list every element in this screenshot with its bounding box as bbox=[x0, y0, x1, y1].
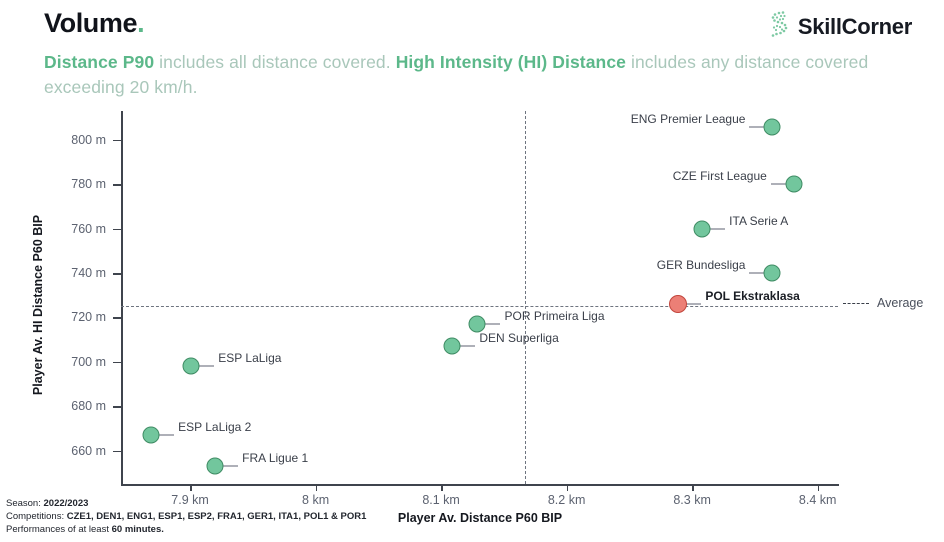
x-axis-line bbox=[121, 484, 839, 486]
y-tick bbox=[113, 317, 121, 319]
point-leader-line bbox=[709, 228, 725, 229]
point-leader-line bbox=[459, 346, 475, 347]
x-tick-label: 8.4 km bbox=[778, 493, 858, 507]
y-axis-title: Player Av. HI Distance P60 BIP bbox=[31, 205, 45, 405]
x-tick bbox=[316, 484, 318, 491]
data-point-label: GER Bundesliga bbox=[657, 258, 746, 272]
point-leader-line bbox=[685, 304, 701, 305]
y-tick bbox=[113, 406, 121, 408]
y-tick-label: 720 m bbox=[44, 310, 106, 324]
legend-label-average: Average bbox=[877, 296, 923, 310]
data-point-label: ESP LaLiga bbox=[218, 351, 281, 365]
data-point[interactable] bbox=[785, 176, 802, 193]
data-point-label: FRA Ligue 1 bbox=[242, 451, 308, 465]
data-point[interactable] bbox=[694, 220, 711, 237]
y-tick bbox=[113, 229, 121, 231]
x-tick bbox=[441, 484, 443, 491]
footer-competitions-value: CZE1, DEN1, ENG1, ESP1, ESP2, FRA1, GER1… bbox=[67, 511, 367, 522]
y-tick-label: 780 m bbox=[44, 177, 106, 191]
point-leader-line bbox=[158, 435, 174, 436]
average-line-horizontal bbox=[121, 306, 838, 307]
data-point[interactable] bbox=[444, 338, 461, 355]
y-axis-line bbox=[121, 111, 123, 485]
data-point-label: POL Ekstraklasa bbox=[705, 289, 800, 303]
data-point-label: ITA Serie A bbox=[729, 214, 788, 228]
y-tick-label: 800 m bbox=[44, 133, 106, 147]
x-tick-label: 8.2 km bbox=[527, 493, 607, 507]
footer-performances: Performances of at least 60 minutes. bbox=[6, 523, 366, 536]
data-point[interactable] bbox=[764, 118, 781, 135]
y-tick bbox=[113, 140, 121, 142]
data-point[interactable] bbox=[669, 295, 687, 313]
x-tick bbox=[190, 484, 192, 491]
data-point-label: ENG Premier League bbox=[631, 112, 746, 126]
x-tick-label: 8.1 km bbox=[401, 493, 481, 507]
footer-competitions: Competitions: CZE1, DEN1, ENG1, ESP1, ES… bbox=[6, 510, 366, 523]
data-point[interactable] bbox=[183, 358, 200, 375]
footer-performances-value: 60 minutes. bbox=[112, 524, 164, 535]
x-tick bbox=[567, 484, 569, 491]
data-point-label: DEN Superliga bbox=[479, 331, 558, 345]
data-point-label: CZE First League bbox=[673, 169, 767, 183]
data-point[interactable] bbox=[764, 265, 781, 282]
point-leader-line bbox=[222, 466, 238, 467]
y-tick-label: 740 m bbox=[44, 266, 106, 280]
y-tick-label: 660 m bbox=[44, 444, 106, 458]
data-point[interactable] bbox=[469, 316, 486, 333]
footer-season-value: 2022/2023 bbox=[44, 498, 89, 509]
x-tick bbox=[818, 484, 820, 491]
y-tick bbox=[113, 362, 121, 364]
footer-competitions-label: Competitions: bbox=[6, 511, 67, 522]
y-tick bbox=[113, 184, 121, 186]
x-tick-label: 8.3 km bbox=[652, 493, 732, 507]
data-point[interactable] bbox=[143, 427, 160, 444]
scatter-plot: Player Av. HI Distance P60 BIP Player Av… bbox=[0, 0, 944, 542]
average-line-vertical bbox=[525, 111, 526, 484]
legend-dashed-line-icon bbox=[843, 303, 869, 304]
data-point-label: ESP LaLiga 2 bbox=[178, 420, 251, 434]
footer-notes: Season: 2022/2023 Competitions: CZE1, DE… bbox=[6, 497, 366, 536]
y-tick-label: 680 m bbox=[44, 399, 106, 413]
data-point-label: POR Primeira Liga bbox=[504, 309, 604, 323]
footer-season: Season: 2022/2023 bbox=[6, 497, 366, 510]
footer-performances-label: Performances of at least bbox=[6, 524, 112, 535]
y-tick-label: 700 m bbox=[44, 355, 106, 369]
y-tick bbox=[113, 273, 121, 275]
x-tick bbox=[692, 484, 694, 491]
y-tick bbox=[113, 451, 121, 453]
data-point[interactable] bbox=[207, 458, 224, 475]
point-leader-line bbox=[198, 366, 214, 367]
footer-season-label: Season: bbox=[6, 498, 44, 509]
legend: Average bbox=[843, 296, 923, 310]
point-leader-line bbox=[484, 324, 500, 325]
y-tick-label: 760 m bbox=[44, 222, 106, 236]
